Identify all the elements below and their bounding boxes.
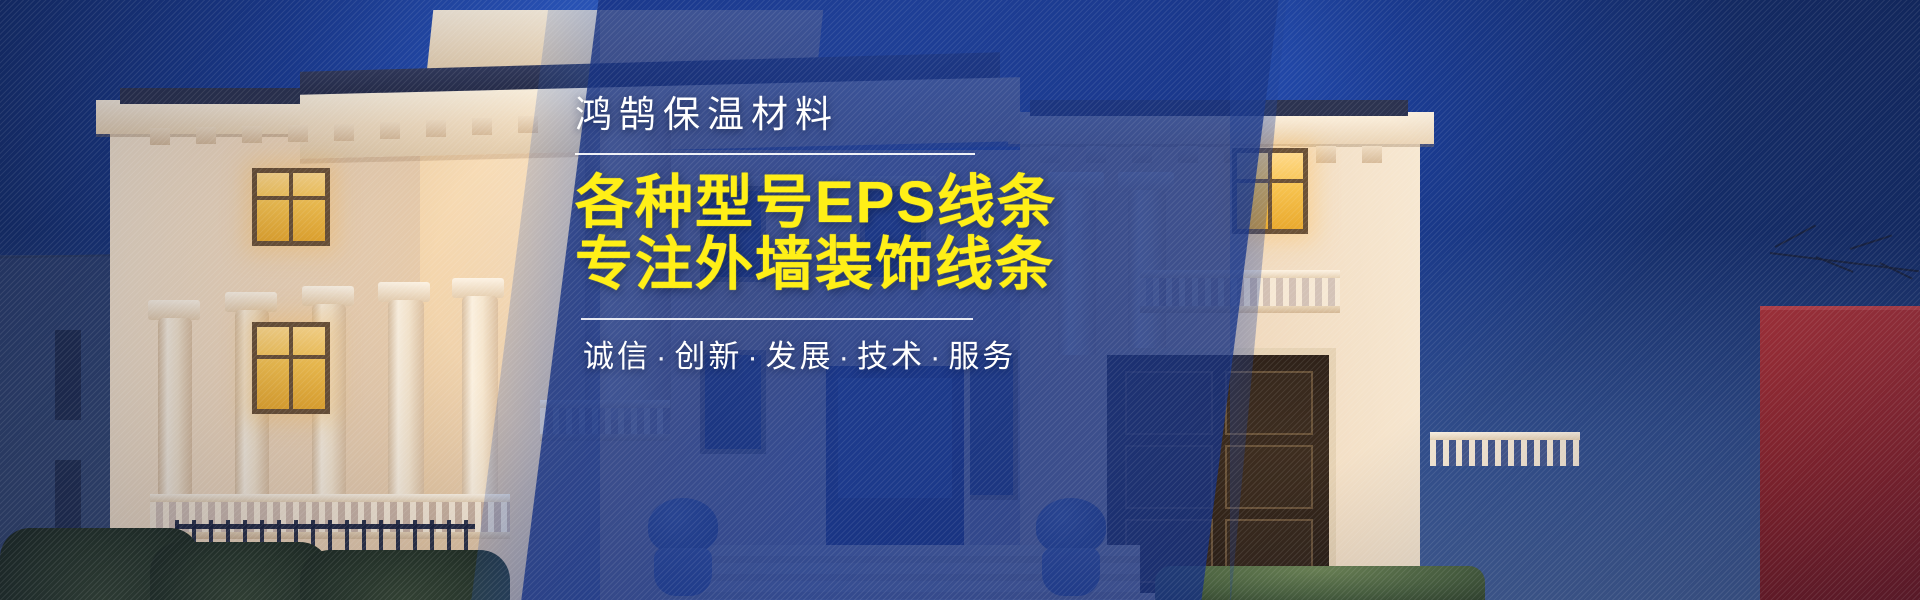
balustrade-rail — [1430, 432, 1580, 440]
cornice-dentil — [1316, 146, 1336, 163]
portico-column — [462, 296, 498, 500]
portico-column — [158, 318, 192, 498]
headline-line-1: 各种型号EPS线条 — [575, 172, 1175, 234]
garage-panel — [1125, 445, 1213, 509]
tagline-item: 发展 — [766, 339, 834, 374]
tagline: 诚信·创新·发展·技术·服务 — [583, 338, 1175, 375]
hedge-row — [1155, 566, 1485, 600]
entrance-glazing — [838, 378, 952, 498]
potted-shrub — [648, 498, 718, 554]
lit-window — [1232, 148, 1308, 234]
garage-panel — [1225, 445, 1313, 509]
balustrade — [1430, 440, 1580, 466]
cornice-dentil — [288, 125, 308, 142]
divider-bottom — [581, 318, 973, 320]
lit-window — [252, 168, 330, 246]
cornice-dentil — [334, 124, 354, 141]
divider-top — [575, 153, 975, 155]
cornice-dentil — [1178, 146, 1198, 163]
balustrade-rail — [150, 494, 510, 502]
red-container — [1760, 310, 1920, 600]
tagline-item: 技术 — [857, 339, 925, 374]
column-capital — [225, 292, 277, 312]
tagline-separator: · — [742, 339, 765, 374]
window-mullion — [1268, 153, 1272, 229]
cornice-dentil — [1362, 146, 1382, 163]
balustrade-rail — [540, 400, 670, 408]
window-mullion — [289, 173, 293, 241]
cornice-dentil — [426, 120, 446, 137]
column-capital — [302, 286, 354, 306]
window-transom — [257, 355, 325, 359]
headline-line-2: 专注外墙装饰线条 — [575, 234, 1175, 296]
balustrade — [540, 408, 670, 434]
cornice-dentil — [150, 128, 170, 145]
planter-pot — [1042, 548, 1100, 596]
cornice-dentil — [518, 116, 538, 133]
iron-fence-rail — [175, 524, 475, 529]
window-mullion — [289, 327, 293, 409]
window-transom — [1237, 179, 1303, 183]
hero-banner: 鸿鹄保温材料 各种型号EPS线条 专注外墙装饰线条 诚信·创新·发展·技术·服务 — [0, 0, 1920, 600]
balustrade-base — [540, 434, 670, 441]
cornice-dentil — [196, 127, 216, 144]
tagline-separator: · — [834, 339, 857, 374]
cornice-dentil — [380, 122, 400, 139]
window-transom — [257, 196, 325, 200]
column-capital — [148, 300, 200, 320]
tagline-separator: · — [651, 339, 674, 374]
garage-panel — [1125, 371, 1213, 435]
portico-column — [388, 300, 424, 500]
banner-content: 鸿鹄保温材料 各种型号EPS线条 专注外墙装饰线条 诚信·创新·发展·技术·服务 — [575, 96, 1175, 375]
brand-name: 鸿鹄保温材料 — [575, 96, 1175, 133]
tagline-item: 服务 — [948, 339, 1016, 374]
foreground-shrub — [300, 550, 510, 600]
lit-window — [252, 322, 330, 414]
cornice-dentil — [242, 126, 262, 143]
garage-panel — [1225, 371, 1313, 435]
cornice-dentil — [472, 118, 492, 135]
planter-pot — [654, 548, 712, 596]
headline-block: 各种型号EPS线条 专注外墙装饰线条 — [575, 172, 1175, 296]
tagline-item: 诚信 — [583, 339, 651, 374]
column-capital — [378, 282, 430, 302]
potted-shrub — [1036, 498, 1106, 554]
tagline-item: 创新 — [674, 339, 742, 374]
column-capital — [452, 278, 504, 298]
tagline-separator: · — [925, 339, 948, 374]
